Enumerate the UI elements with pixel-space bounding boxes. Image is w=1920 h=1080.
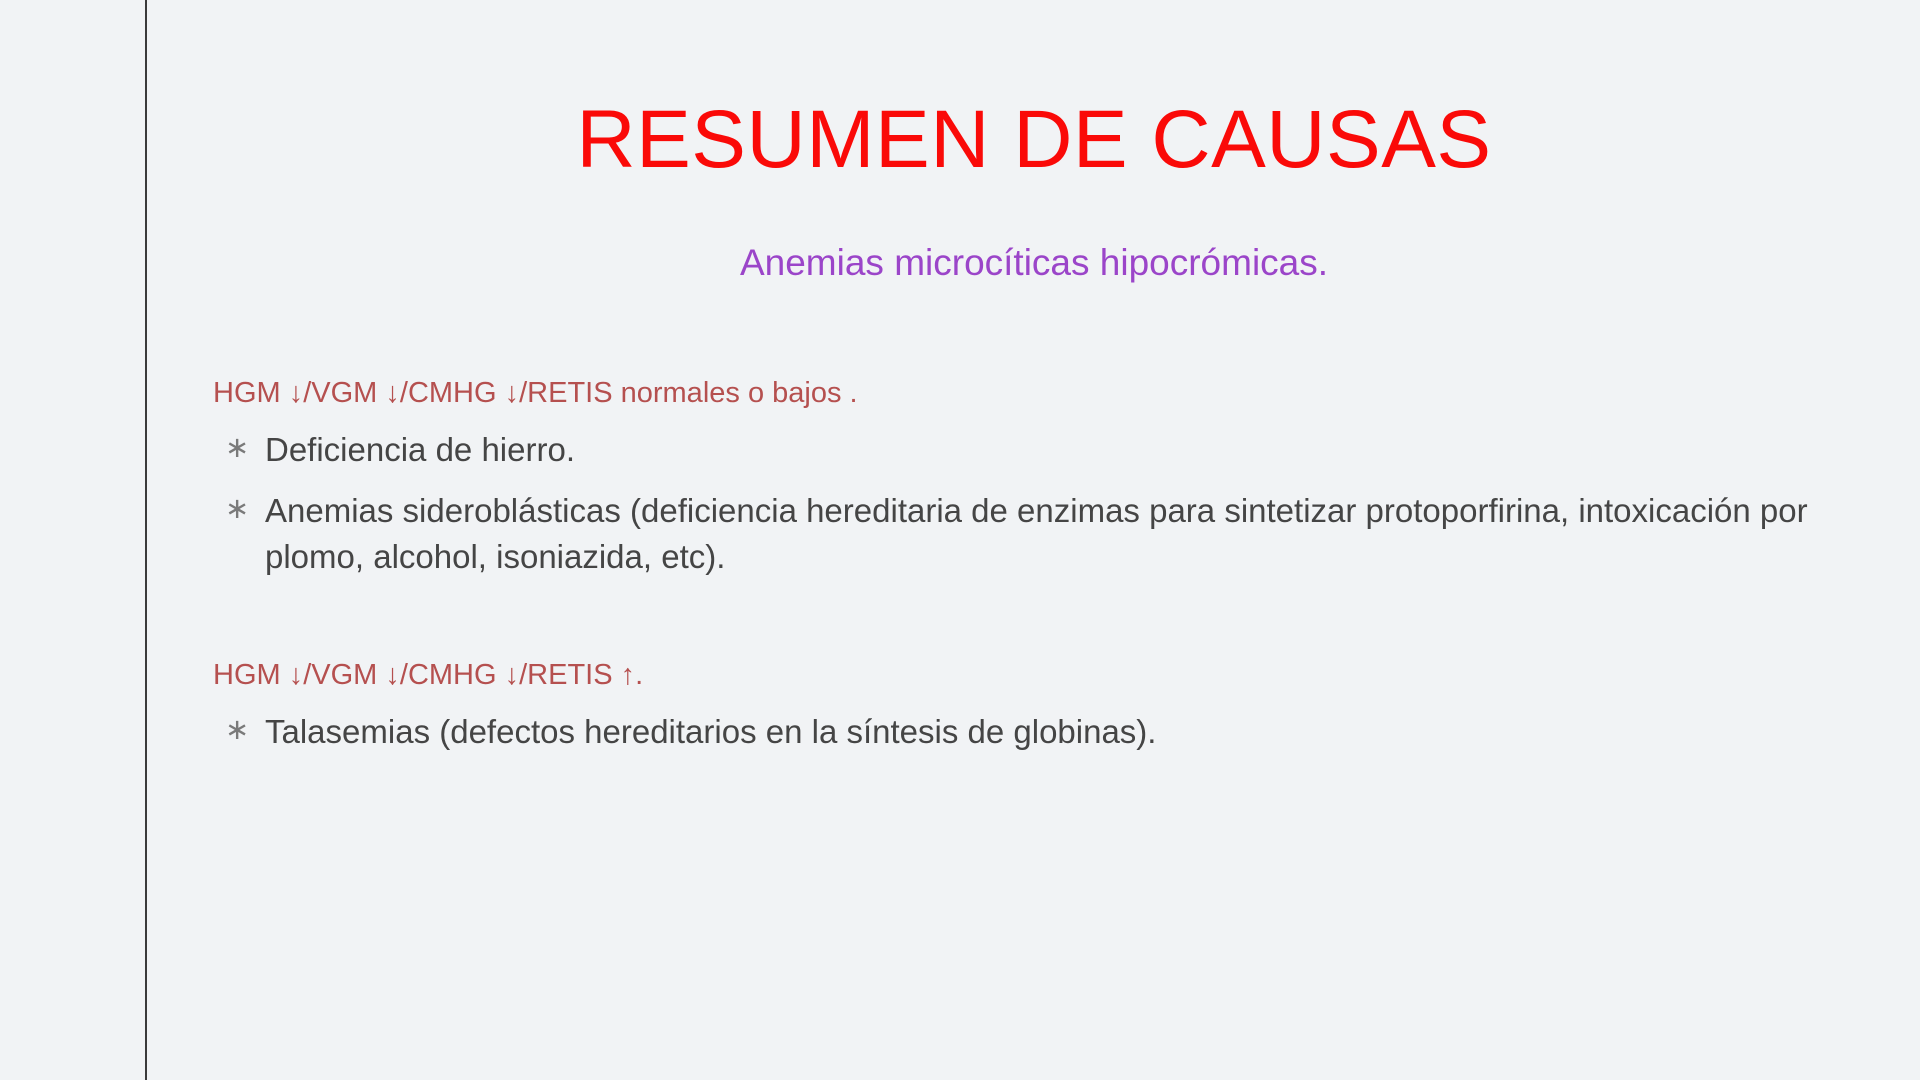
group-heading-indices-2: HGM ↓/VGM ↓/CMHG ↓/RETIS ↑. [213, 657, 1850, 693]
cause-list-1: ∗ Deficiencia de hierro. ∗ Anemias sider… [213, 427, 1850, 579]
list-item-label: Talasemias (defectos hereditarios en la … [265, 709, 1850, 754]
list-item-label: Deficiencia de hierro. [265, 427, 1850, 472]
left-margin-rule [145, 0, 147, 1080]
slide-content-area: RESUMEN DE CAUSAS Anemias microcíticas h… [148, 0, 1920, 1080]
group-spacer [213, 579, 1850, 657]
cause-group-2: HGM ↓/VGM ↓/CMHG ↓/RETIS ↑. ∗ Talasemias… [213, 657, 1850, 754]
slide-body: HGM ↓/VGM ↓/CMHG ↓/RETIS normales o bajo… [213, 375, 1850, 754]
list-item: ∗ Talasemias (defectos hereditarios en l… [213, 709, 1850, 754]
asterisk-bullet-icon: ∗ [213, 427, 265, 469]
cause-group-1: HGM ↓/VGM ↓/CMHG ↓/RETIS normales o bajo… [213, 375, 1850, 579]
page-title: RESUMEN DE CAUSAS [148, 97, 1920, 183]
group-heading-indices-1: HGM ↓/VGM ↓/CMHG ↓/RETIS normales o bajo… [213, 375, 1850, 411]
asterisk-bullet-icon: ∗ [213, 488, 265, 530]
slide-subtitle: Anemias microcíticas hipocrómicas. [148, 241, 1920, 285]
list-item: ∗ Deficiencia de hierro. [213, 427, 1850, 472]
slide-canvas: RESUMEN DE CAUSAS Anemias microcíticas h… [0, 0, 1920, 1080]
list-item: ∗ Anemias sideroblásticas (deficiencia h… [213, 488, 1850, 578]
cause-list-2: ∗ Talasemias (defectos hereditarios en l… [213, 709, 1850, 754]
asterisk-bullet-icon: ∗ [213, 709, 265, 751]
list-item-label: Anemias sideroblásticas (deficiencia her… [265, 488, 1850, 578]
